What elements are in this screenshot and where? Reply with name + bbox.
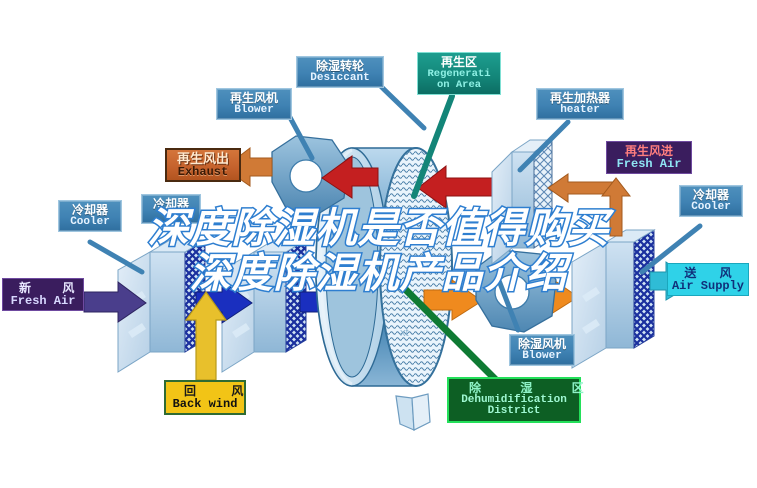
label-regeneration-area-cn: 再生区 — [420, 56, 498, 69]
diagram-canvas: xt — [0, 0, 757, 488]
label-dehumidification-district[interactable]: 除 湿 区 Dehumidification District — [447, 377, 581, 423]
label-cooler-left-1[interactable]: 冷却器 Cooler — [58, 200, 122, 232]
label-dehum-blower[interactable]: 除湿风机 Blower — [509, 334, 575, 366]
label-desiccant-wheel-en: Desiccant — [299, 73, 381, 85]
label-regen-heater-en: heater — [539, 105, 621, 117]
svg-text:xt: xt — [400, 327, 409, 339]
label-dehum-blower-cn: 除湿风机 — [512, 338, 572, 351]
label-dehum-blower-en: Blower — [512, 351, 572, 363]
label-fresh-air-left[interactable]: 新 风 Fresh Air — [2, 278, 84, 311]
label-regeneration-area-en: Regenerati on Area — [427, 69, 491, 91]
label-fresh-air-left-en: Fresh Air — [5, 295, 81, 308]
label-dehumidification-district-en: Dehumidification District — [451, 395, 577, 418]
label-exhaust-cn: 再生风出 — [169, 152, 237, 166]
label-regen-fresh-air[interactable]: 再生风进 Fresh Air — [606, 141, 692, 174]
label-regen-blower-cn: 再生风机 — [219, 92, 289, 105]
label-regen-fresh-air-cn: 再生风进 — [609, 145, 689, 158]
label-desiccant-wheel-cn: 除湿转轮 — [299, 60, 381, 73]
label-exhaust-en: Exhaust — [169, 166, 237, 179]
label-cooler-right-cn: 冷却器 — [682, 189, 740, 202]
regen-intake-arrow — [548, 174, 616, 202]
label-regeneration-area[interactable]: 再生区 Regenerati on Area — [417, 52, 501, 95]
heater-coil — [492, 140, 552, 264]
label-air-supply-cn: 送 风 — [670, 267, 746, 280]
cooler-coil-3 — [572, 230, 654, 368]
label-dehumidification-district-cn: 除 湿 区 — [451, 382, 577, 395]
label-fresh-air-left-cn: 新 风 — [5, 282, 81, 295]
label-exhaust[interactable]: 再生风出 Exhaust — [165, 148, 241, 182]
label-cooler-left-1-en: Cooler — [61, 217, 119, 229]
label-regen-fresh-air-en: Fresh Air — [609, 158, 689, 171]
label-regen-blower[interactable]: 再生风机 Blower — [216, 88, 292, 120]
drain-pan — [396, 394, 430, 430]
label-regen-heater[interactable]: 再生加热器 heater — [536, 88, 624, 120]
label-cooler-right[interactable]: 冷却器 Cooler — [679, 185, 743, 217]
label-cooler-left-2[interactable]: 冷却器 — [141, 194, 201, 224]
label-back-wind-en: Back wind — [168, 398, 242, 411]
label-cooler-left-2-cn: 冷却器 — [144, 198, 198, 211]
label-desiccant-wheel[interactable]: 除湿转轮 Desiccant — [296, 56, 384, 88]
label-air-supply-en: Air Supply — [670, 280, 746, 293]
label-air-supply[interactable]: 送 风 Air Supply — [667, 263, 749, 296]
label-regen-heater-cn: 再生加热器 — [539, 92, 621, 105]
label-back-wind-cn: 回 风 — [168, 385, 242, 398]
label-back-wind[interactable]: 回 风 Back wind — [164, 380, 246, 415]
label-cooler-right-en: Cooler — [682, 202, 740, 214]
label-regen-blower-en: Blower — [219, 105, 289, 117]
label-cooler-left-1-cn: 冷却器 — [61, 204, 119, 217]
